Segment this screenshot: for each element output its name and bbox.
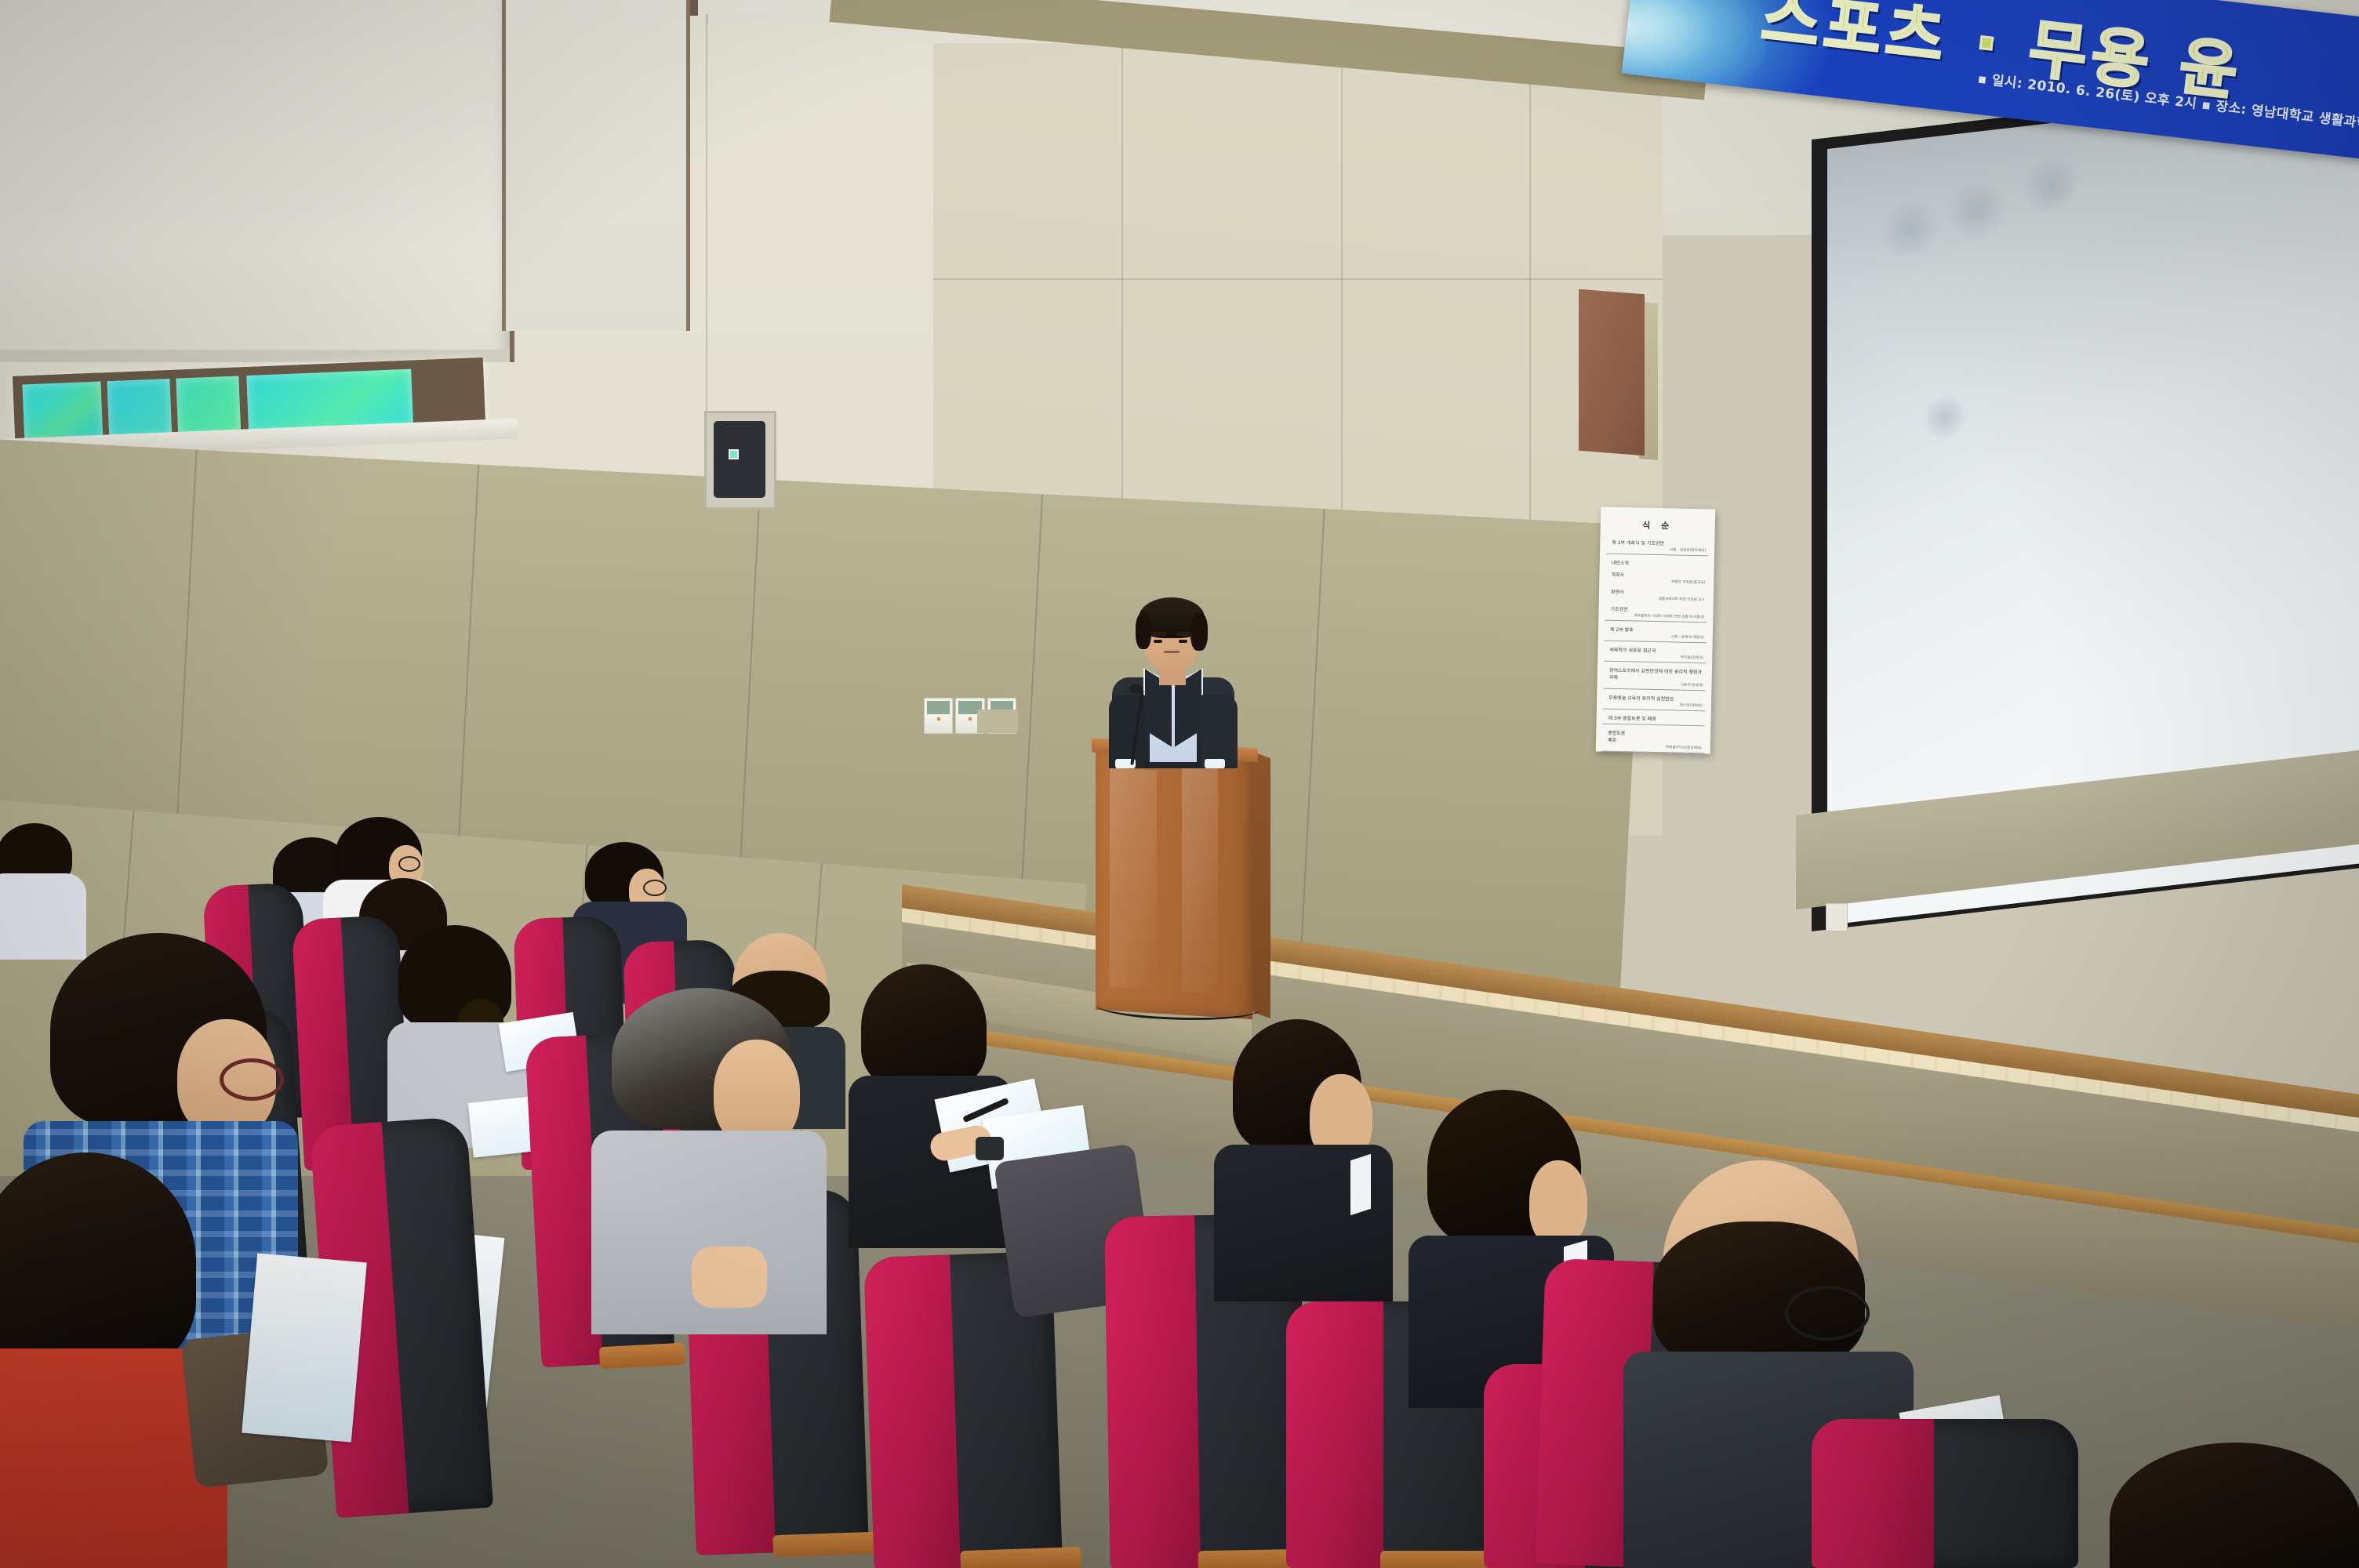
thermostat-1[interactable] <box>924 698 953 734</box>
poster-row: 체육학의 새로운 접근과박기동(강원대) <box>1604 646 1706 664</box>
audience-member <box>604 988 823 1325</box>
poster-row: 제 1부 개회식 및 기조강연사회 : 김정효(한국체대) <box>1606 539 1708 557</box>
audience-member <box>1225 1019 1382 1286</box>
lecture-hall-photo: 식 순 제 1부 개회식 및 기조강연사회 : 김정효(한국체대) 내빈소개 개… <box>0 0 2359 1568</box>
blank-wall-plate <box>977 710 1018 733</box>
poster-row: 내빈소개 <box>1606 559 1708 568</box>
conference-booklet <box>242 1253 367 1442</box>
presenter-mouth <box>1164 651 1179 653</box>
hands <box>692 1247 767 1308</box>
poster-row: 개회사학회장 이학준(동국대) <box>1605 571 1707 586</box>
poster-row: 환영사생활과학대학 학장 이정원 교수 <box>1605 588 1707 603</box>
poster-title: 식 순 <box>1607 518 1709 533</box>
poster-row: 무용예술 교육의 윤리적 실천방안정나영(경희대) <box>1603 694 1705 712</box>
shirt-collar <box>1350 1154 1371 1215</box>
audience-member <box>0 823 86 949</box>
podium <box>1096 743 1252 1019</box>
presenter-hair-right <box>1190 613 1208 651</box>
wristwatch <box>976 1137 1004 1160</box>
wall-speaker <box>704 411 776 510</box>
wooden-wall-cabinet <box>1579 289 1645 456</box>
poster-row: 제 2부 발표사회 : 송형석(계명대) <box>1605 626 1707 644</box>
presenter <box>1098 593 1247 765</box>
poster-row: 기조강연체육철학의 시대적 과제와 전망 김홍식(서울대) <box>1605 605 1707 623</box>
audience-member <box>2110 1443 2359 1568</box>
program-schedule-poster: 식 순 제 1부 개회식 및 기조강연사회 : 김정효(한국체대) 내빈소개 개… <box>1596 507 1716 754</box>
presenter-arm-right <box>1201 695 1238 768</box>
microphone-head <box>1129 684 1143 694</box>
presenter-cuff-right <box>1205 759 1225 768</box>
wall-outlet <box>1826 903 1848 931</box>
poster-row: 현대스포츠에서 심판판정에 대한 윤리적 쟁점과 과제고동우(연세대) <box>1603 666 1706 691</box>
seat[interactable] <box>1812 1419 2078 1568</box>
roller-blind-left[interactable] <box>0 0 514 362</box>
roller-blind-right[interactable] <box>502 0 690 331</box>
presenter-hair-left <box>1136 613 1151 649</box>
poster-row: 제 3부 종합토론 및 폐회 <box>1602 714 1704 727</box>
poster-row: 종합토론폐회학회총무이사(한국체대) <box>1602 729 1705 754</box>
